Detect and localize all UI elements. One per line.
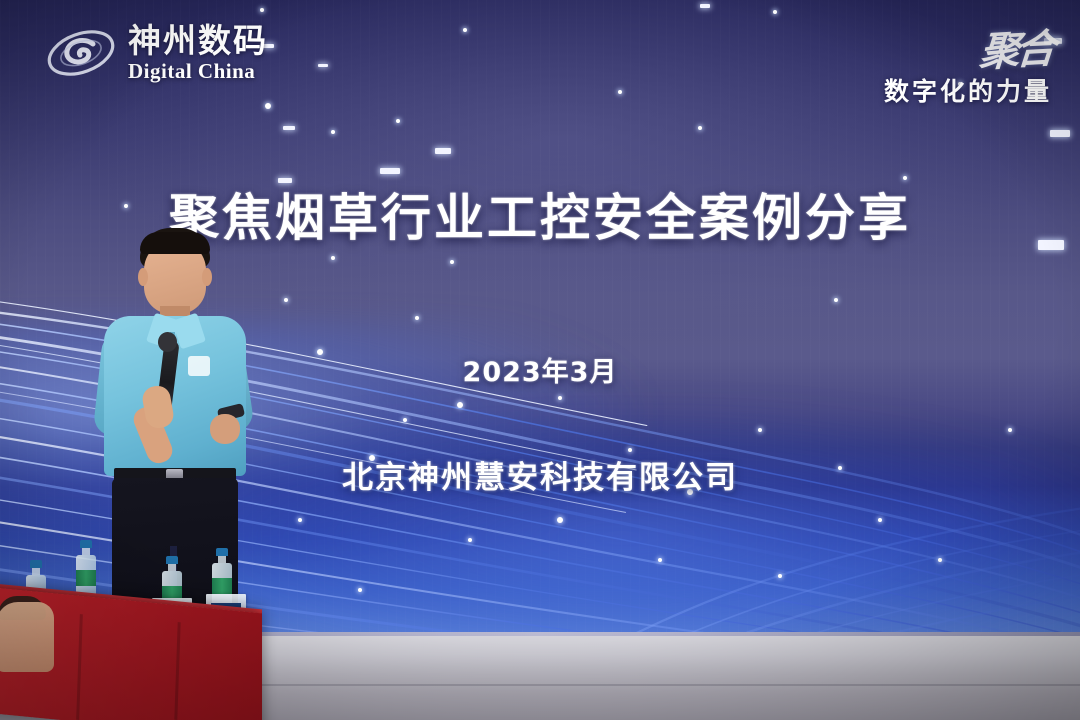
bottle-cap xyxy=(30,560,42,568)
bottle-cap xyxy=(216,548,228,556)
water-bottle xyxy=(76,540,96,599)
bottle-neck xyxy=(218,556,226,563)
speaker-ear-right xyxy=(202,268,212,286)
event-calligraphy: 聚合 xyxy=(978,16,1054,78)
event-mark: 聚合 数字化的力量 xyxy=(884,18,1052,108)
event-subtitle: 数字化的力量 xyxy=(884,72,1052,108)
speaker-chest-badge xyxy=(188,356,210,376)
bottle-cap xyxy=(80,540,92,548)
bottle-neck xyxy=(32,568,40,575)
bottle-label xyxy=(76,570,96,586)
speaker-hand-right xyxy=(210,414,240,444)
brand-text: 神州数码 Digital China xyxy=(128,24,268,82)
bottle-label xyxy=(212,578,232,594)
attendee-figure xyxy=(0,602,54,672)
bottle-cap xyxy=(166,556,178,564)
bottle-neck xyxy=(168,564,176,571)
speaker-ear-left xyxy=(138,268,148,286)
spiral-galaxy-logo-icon xyxy=(44,22,118,84)
speaker-fringe xyxy=(140,232,210,254)
bottle-neck xyxy=(82,548,90,555)
brand-logo: 神州数码 Digital China xyxy=(44,22,268,84)
brand-name-cn: 神州数码 xyxy=(128,24,268,57)
conference-stage-photo: 神州数码 Digital China 聚合 数字化的力量 聚焦烟草行业工控安全案… xyxy=(0,0,1080,720)
brand-name-en: Digital China xyxy=(128,61,268,82)
